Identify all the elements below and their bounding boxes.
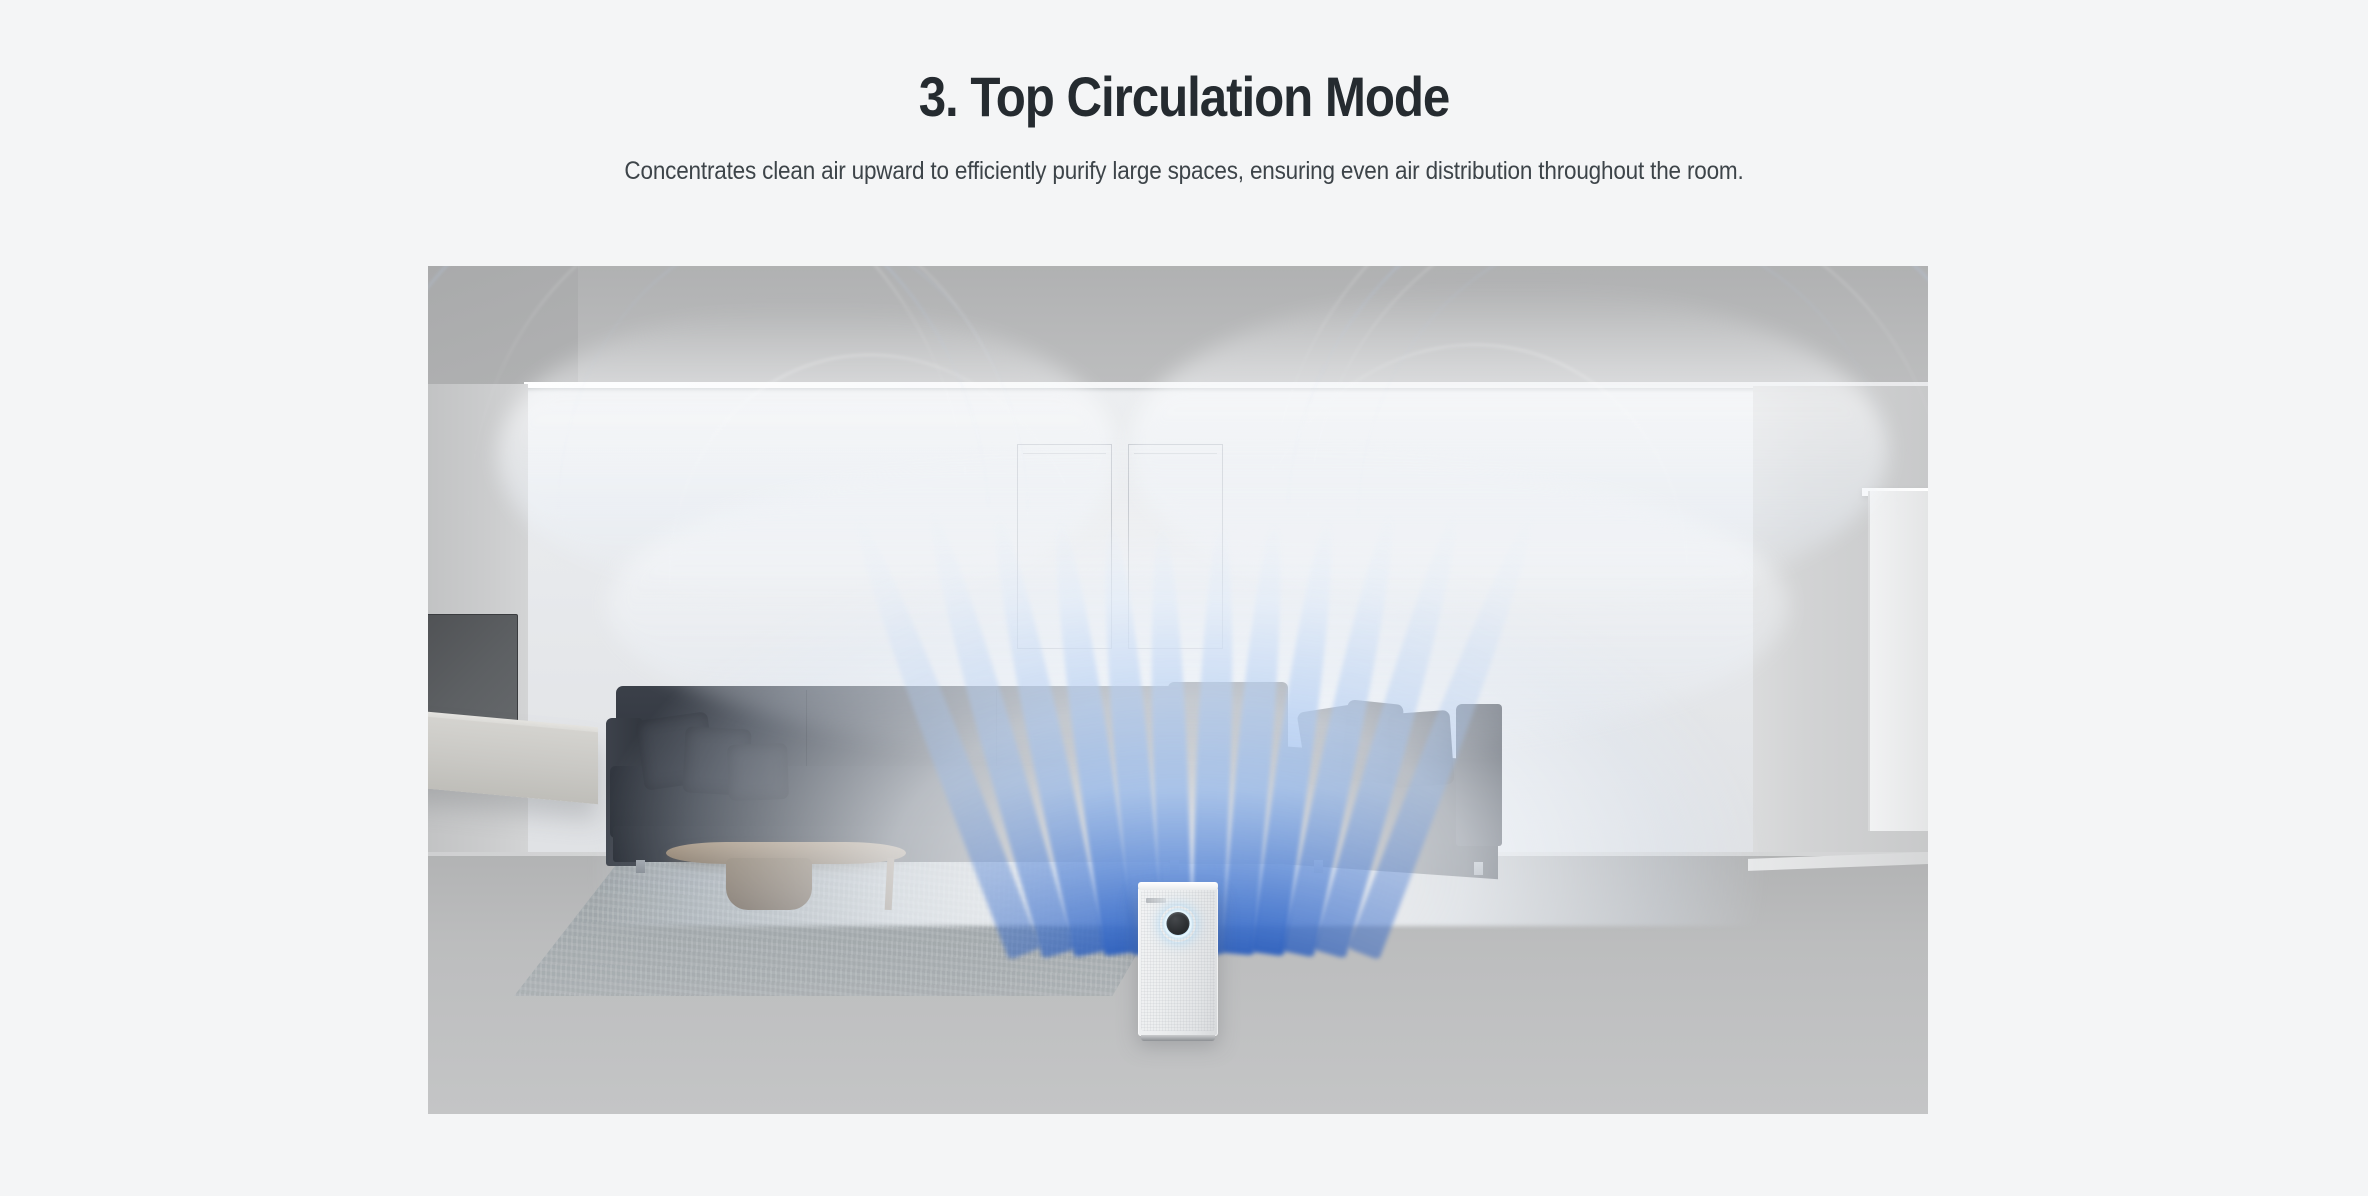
sofa-foot: [1314, 860, 1323, 873]
throw-pillow: [1387, 710, 1454, 788]
sofa-foot: [1170, 860, 1179, 873]
sofa-foot: [636, 860, 645, 873]
sofa-back-seam: [996, 690, 997, 778]
living-room-scene: [428, 266, 1928, 1114]
product-feature-section: 3. Top Circulation Mode Concentrates cle…: [0, 0, 2368, 1196]
section-subtitle: Concentrates clean air upward to efficie…: [118, 157, 2249, 186]
right-cabinet: [1868, 491, 1928, 831]
air-purifier[interactable]: [1138, 886, 1218, 1036]
rug-texture: [514, 856, 1194, 996]
air-purifier-base: [1141, 1035, 1215, 1041]
coffee-table-base: [726, 858, 812, 910]
sofa-back-seam: [806, 690, 807, 778]
sofa-foot: [1474, 862, 1483, 875]
sofa-arm-right: [1456, 704, 1502, 846]
area-rug: [514, 856, 1194, 996]
ceiling: [428, 266, 1928, 396]
heading-block: 3. Top Circulation Mode Concentrates cle…: [0, 0, 2368, 186]
air-purifier-top-vent: [1138, 882, 1218, 890]
feature-image: [428, 266, 1928, 1114]
soffit-edge: [524, 382, 1928, 388]
wall-panel-right: [1128, 444, 1223, 649]
wall-panel-left: [1017, 444, 1112, 649]
throw-pillow: [727, 743, 789, 801]
sofa-corner-section: [1168, 682, 1288, 864]
page-title: 3. Top Circulation Mode: [142, 68, 2226, 127]
control-dial-display[interactable]: [1167, 912, 1190, 935]
brand-logo: [1146, 898, 1166, 903]
